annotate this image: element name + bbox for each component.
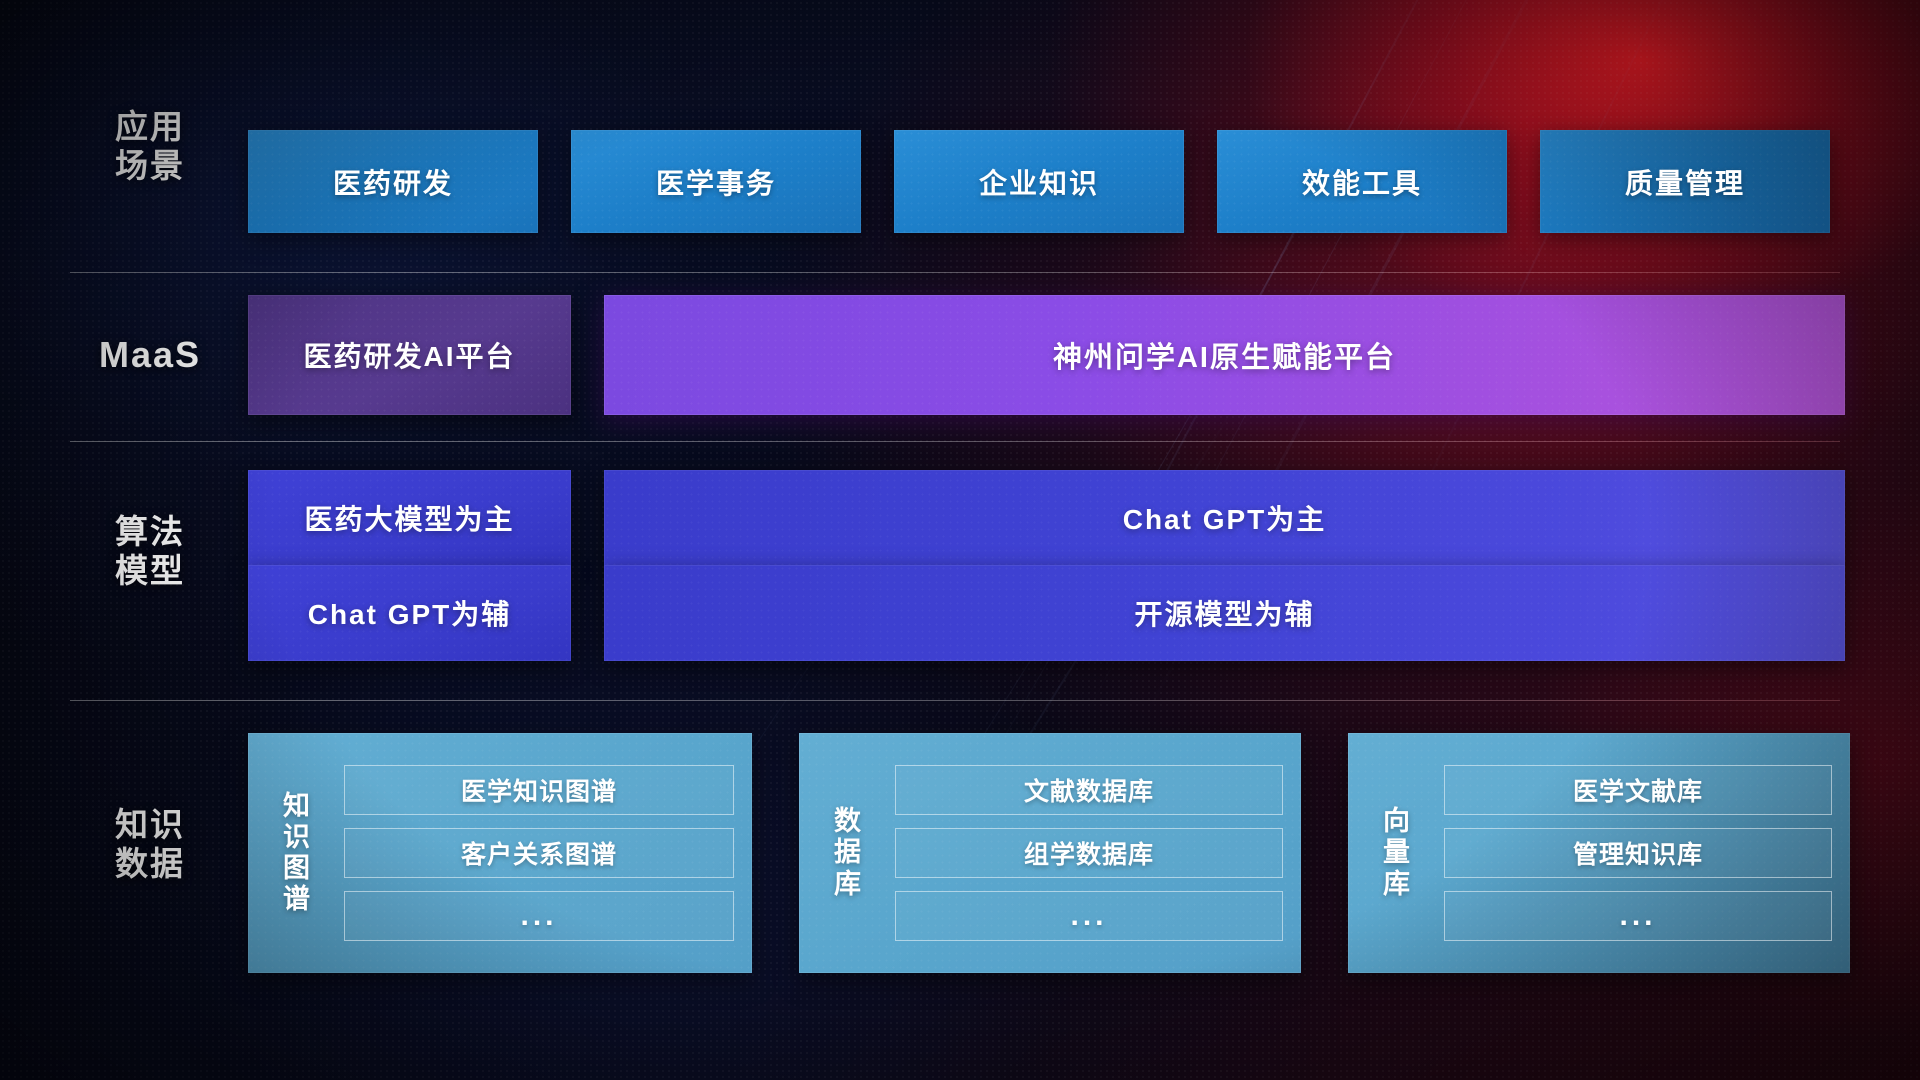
algo-card-pharma-llm-primary[interactable]: 医药大模型为主	[248, 470, 571, 566]
algo-card-label: Chat GPT为主	[1123, 498, 1327, 538]
row-label-application-scenarios: 应用 场景	[70, 108, 230, 186]
app-card-medical-affairs[interactable]: 医学事务	[571, 130, 861, 233]
knowledge-panel-title-char: 图	[266, 853, 328, 884]
knowledge-panel-title: 数据库	[817, 806, 879, 899]
knowledge-chip-management-knowledge-store[interactable]: 管理知识库	[1444, 828, 1832, 878]
row-label-algorithm-models: 算法 模型	[70, 513, 230, 591]
knowledge-chip-customer-relation-graph[interactable]: 客户关系图谱	[344, 828, 734, 878]
knowledge-panel-title-char: 谱	[266, 884, 328, 915]
algo-card-opensource-secondary[interactable]: 开源模型为辅	[604, 565, 1845, 661]
algorithm-model-row-primary: 医药大模型为主 Chat GPT为主	[248, 470, 1845, 566]
application-scenario-card-list: 医药研发 医学事务 企业知识 效能工具 质量管理	[248, 130, 1830, 233]
knowledge-chip-medical-knowledge-graph[interactable]: 医学知识图谱	[344, 765, 734, 815]
app-card-efficiency-tools[interactable]: 效能工具	[1217, 130, 1507, 233]
app-card-label: 质量管理	[1625, 162, 1745, 202]
row-label-text: MaaS	[70, 334, 230, 376]
knowledge-panel-title-char: 量	[1366, 837, 1428, 868]
algo-card-label: Chat GPT为辅	[308, 593, 512, 633]
knowledge-chip-more-ellipsis[interactable]: ...	[344, 891, 734, 941]
app-card-quality-management[interactable]: 质量管理	[1540, 130, 1830, 233]
knowledge-panel-title: 知识图谱	[266, 791, 328, 915]
row-label-line-2: 场景	[70, 147, 230, 186]
knowledge-panel-title: 向量库	[1366, 806, 1428, 899]
knowledge-chip-omics-database[interactable]: 组学数据库	[895, 828, 1283, 878]
app-card-label: 医药研发	[333, 162, 453, 202]
algo-card-chatgpt-primary[interactable]: Chat GPT为主	[604, 470, 1845, 566]
knowledge-panel-title-char: 库	[817, 869, 879, 900]
knowledge-panel-title-char: 识	[266, 822, 328, 853]
knowledge-panel-items: 文献数据库 组学数据库 ...	[879, 765, 1283, 941]
row-label-knowledge-data: 知识 数据	[70, 806, 230, 884]
knowledge-chip-literature-database[interactable]: 文献数据库	[895, 765, 1283, 815]
row-label-line-2: 模型	[70, 552, 230, 591]
knowledge-panel-knowledge-graph[interactable]: 知识图谱 医学知识图谱 客户关系图谱 ...	[248, 733, 752, 973]
algo-card-chatgpt-secondary[interactable]: Chat GPT为辅	[248, 565, 571, 661]
knowledge-panel-items: 医学知识图谱 客户关系图谱 ...	[328, 765, 734, 941]
knowledge-panel-title-char: 据	[817, 837, 879, 868]
app-card-enterprise-knowledge[interactable]: 企业知识	[894, 130, 1184, 233]
slide-canvas: 应用 场景 医药研发 医学事务 企业知识 效能工具 质量管理 MaaS 医药研发…	[0, 0, 1920, 1080]
divider-after-maas	[70, 441, 1840, 442]
algorithm-model-row-secondary: Chat GPT为辅 开源模型为辅	[248, 565, 1845, 661]
app-card-label: 效能工具	[1302, 162, 1422, 202]
knowledge-panel-title-char: 知	[266, 791, 328, 822]
row-label-line-2: 数据	[70, 845, 230, 884]
knowledge-panel-title-char: 向	[1366, 806, 1428, 837]
maas-card-label: 医药研发AI平台	[303, 335, 515, 375]
app-card-drug-rnd[interactable]: 医药研发	[248, 130, 538, 233]
algo-card-label: 医药大模型为主	[304, 498, 514, 538]
knowledge-panel-title-char: 库	[1366, 869, 1428, 900]
row-label-line-1: 应用	[70, 108, 230, 147]
row-label-maas: MaaS	[70, 334, 230, 376]
maas-card-shenzhou-wenxue-platform[interactable]: 神州问学AI原生赋能平台	[604, 295, 1845, 415]
divider-after-algorithm-models	[70, 700, 1840, 701]
knowledge-data-panel-list: 知识图谱 医学知识图谱 客户关系图谱 ... 数据库 文献数据库 组学数据库 .…	[248, 733, 1850, 973]
knowledge-panel-database[interactable]: 数据库 文献数据库 组学数据库 ...	[799, 733, 1301, 973]
divider-after-application-scenarios	[70, 272, 1840, 273]
row-label-line-1: 算法	[70, 513, 230, 552]
knowledge-panel-items: 医学文献库 管理知识库 ...	[1428, 765, 1832, 941]
knowledge-panel-vector-store[interactable]: 向量库 医学文献库 管理知识库 ...	[1348, 733, 1850, 973]
knowledge-chip-medical-literature-store[interactable]: 医学文献库	[1444, 765, 1832, 815]
app-card-label: 医学事务	[656, 162, 776, 202]
app-card-label: 企业知识	[979, 162, 1099, 202]
row-label-line-1: 知识	[70, 806, 230, 845]
algo-card-label: 开源模型为辅	[1134, 593, 1314, 633]
knowledge-panel-title-char: 数	[817, 806, 879, 837]
knowledge-chip-more-ellipsis[interactable]: ...	[1444, 891, 1832, 941]
knowledge-chip-more-ellipsis[interactable]: ...	[895, 891, 1283, 941]
maas-platform-row: 医药研发AI平台 神州问学AI原生赋能平台	[248, 295, 1845, 415]
maas-card-drug-rnd-ai-platform[interactable]: 医药研发AI平台	[248, 295, 571, 415]
maas-card-label: 神州问学AI原生赋能平台	[1053, 334, 1396, 376]
